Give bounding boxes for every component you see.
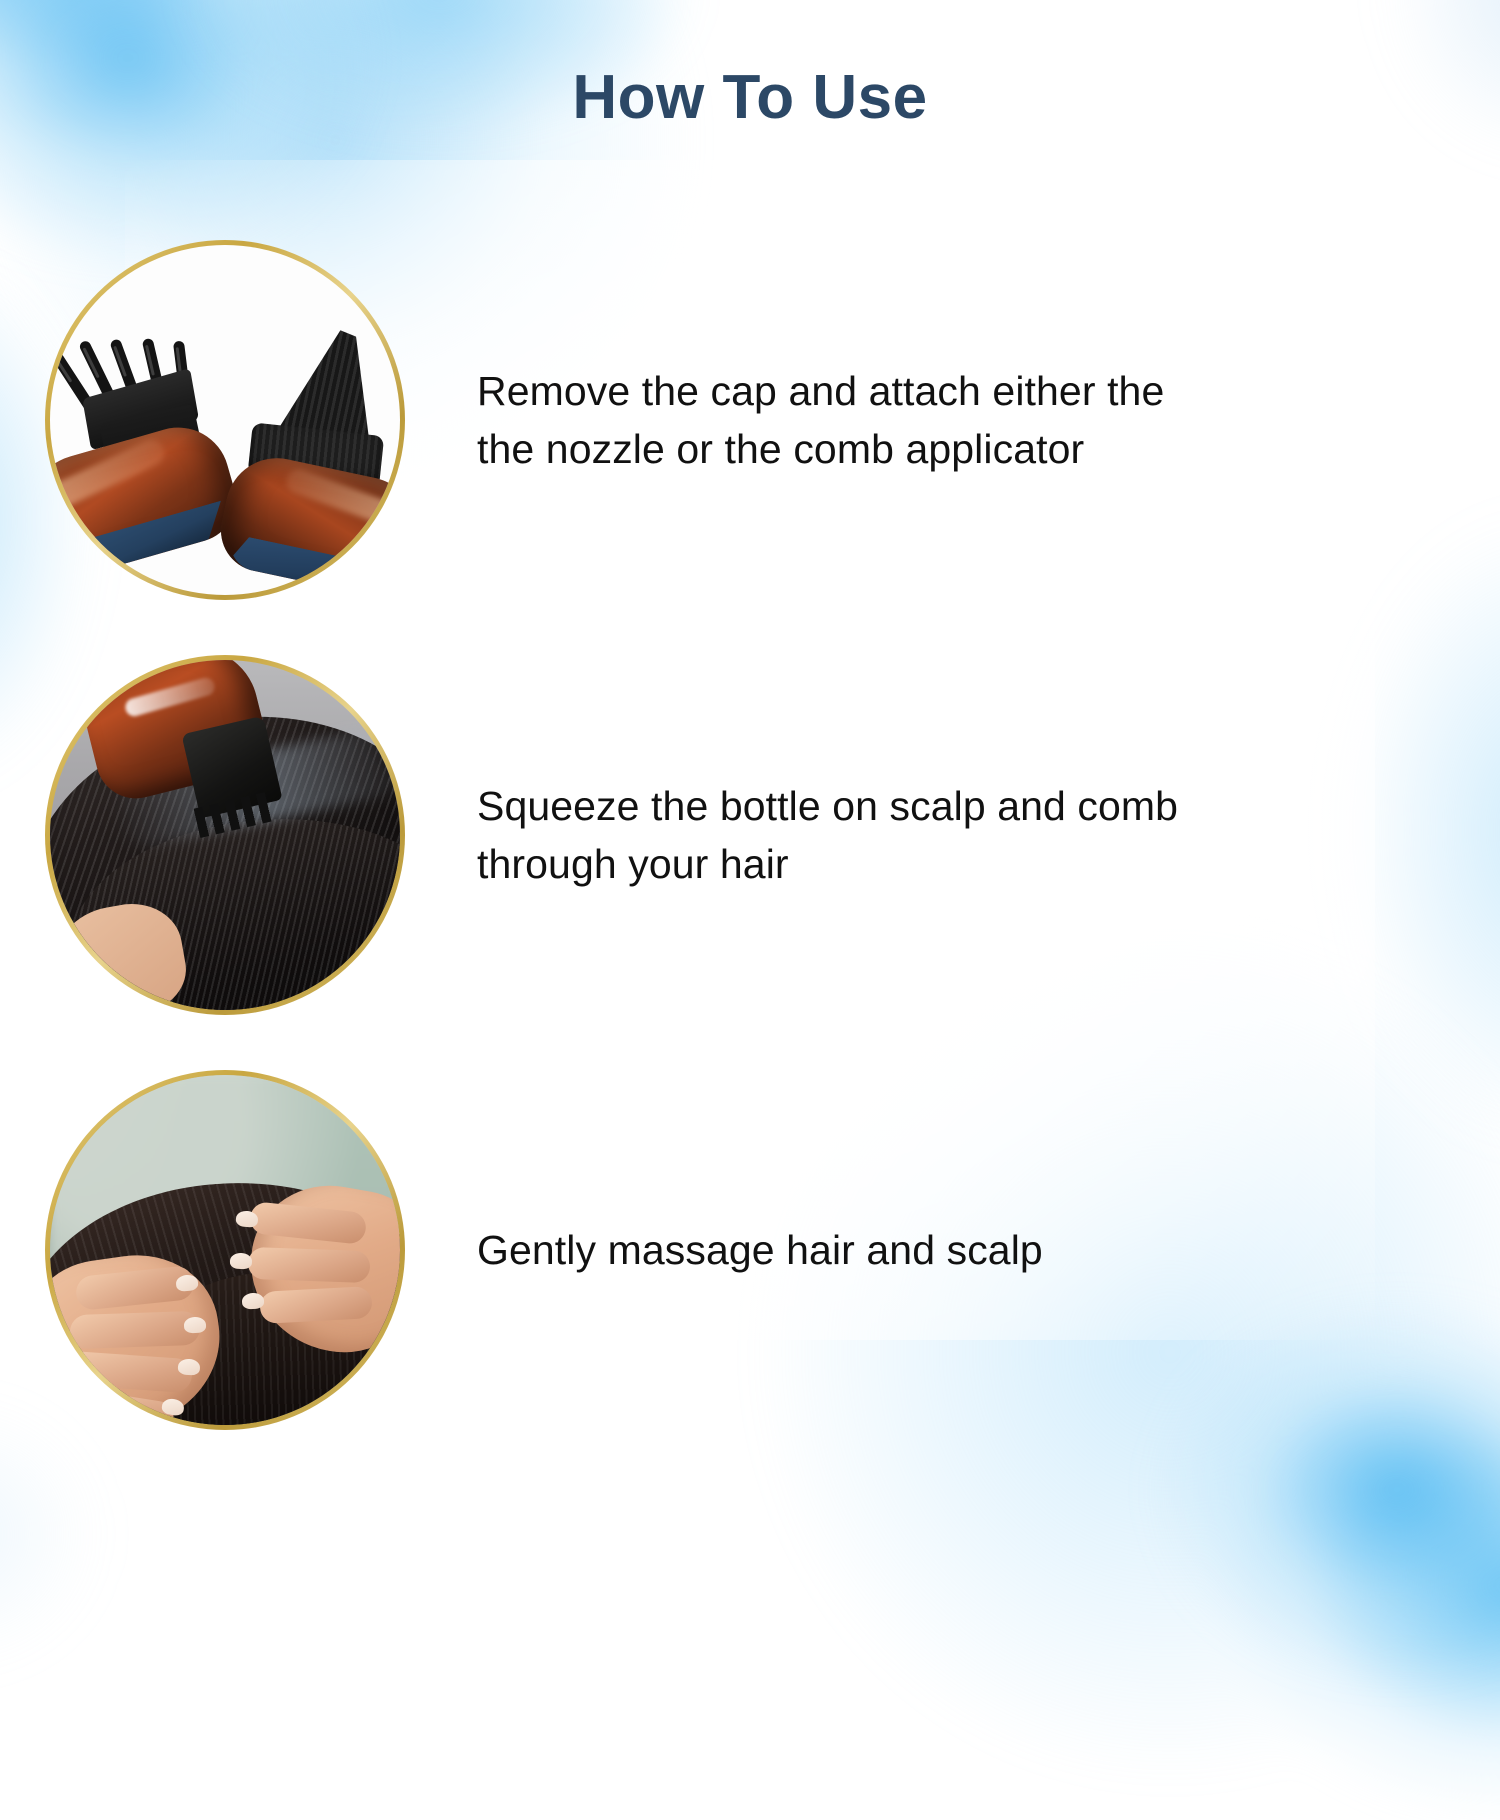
step-2-line-1: Squeeze the bottle on scalp and comb: [477, 777, 1178, 835]
how-to-use-infographic: How To Use: [0, 0, 1500, 1500]
step-item-2: Squeeze the bottle on scalp and comb thr…: [45, 655, 1445, 1015]
right-finger-2: [247, 1247, 370, 1283]
right-nail-3: [242, 1292, 265, 1309]
step-3-text: Gently massage hair and scalp: [477, 1221, 1043, 1279]
photo-bottles-applicators: [50, 245, 400, 595]
page-title: How To Use: [0, 62, 1500, 133]
left-nail-2: [184, 1317, 207, 1334]
step-3-image: [45, 1070, 405, 1430]
right-finger-3: [259, 1286, 373, 1324]
left-nail-3: [177, 1358, 200, 1375]
left-finger-2: [69, 1311, 200, 1350]
step-2-text: Squeeze the bottle on scalp and comb thr…: [477, 777, 1178, 893]
right-nail-2: [230, 1253, 253, 1270]
step-item-3: Gently massage hair and scalp: [45, 1070, 1445, 1430]
photo-bottle-on-scalp: [50, 660, 400, 1010]
step-1-text: Remove the cap and attach either the the…: [477, 362, 1164, 478]
step-3-line-1: Gently massage hair and scalp: [477, 1221, 1043, 1279]
step-1-line-1: Remove the cap and attach either the: [477, 362, 1164, 420]
step-2-line-2: through your hair: [477, 835, 1178, 893]
step-item-1: Remove the cap and attach either the the…: [45, 240, 1445, 600]
photo-scalp-massage: [50, 1075, 400, 1425]
step-2-image: [45, 655, 405, 1015]
step-1-line-2: the nozzle or the comb applicator: [477, 420, 1164, 478]
step-1-image: [45, 240, 405, 600]
